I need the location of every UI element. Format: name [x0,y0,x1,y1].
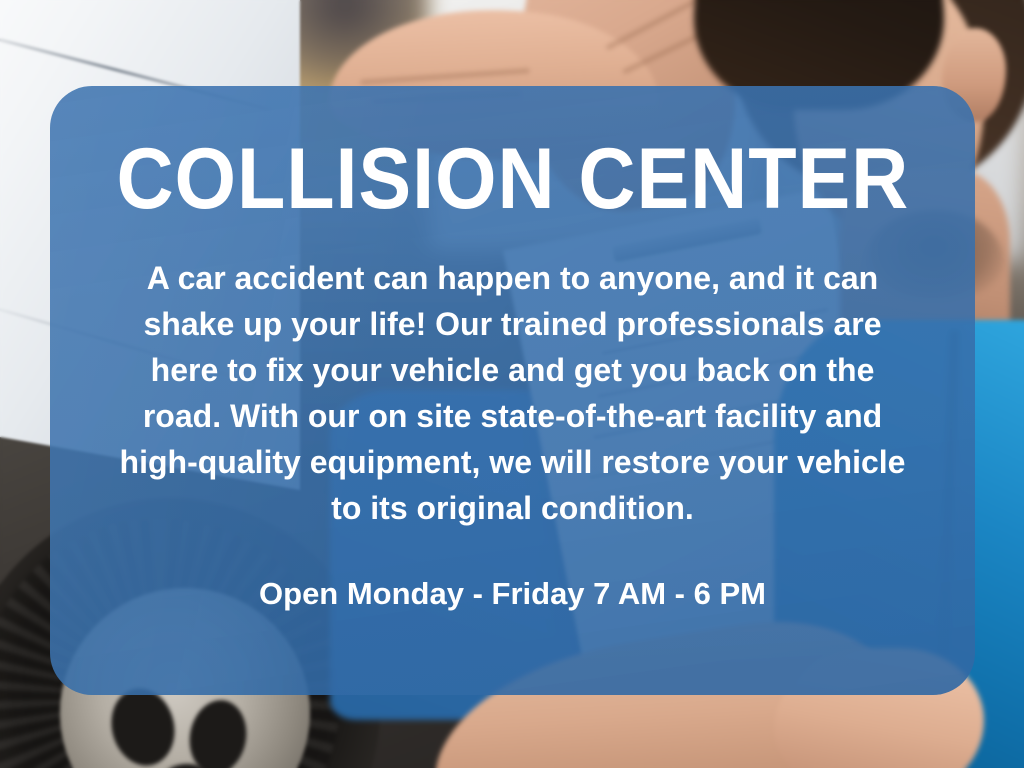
description-text: A car accident can happen to anyone, and… [108,255,918,531]
business-hours: Open Monday - Friday 7 AM - 6 PM [259,573,766,615]
page-title: COLLISION CENTER [116,138,909,221]
poster-canvas: COLLISION CENTER A car accident can happ… [0,0,1024,768]
collision-center-card: COLLISION CENTER A car accident can happ… [50,86,975,695]
